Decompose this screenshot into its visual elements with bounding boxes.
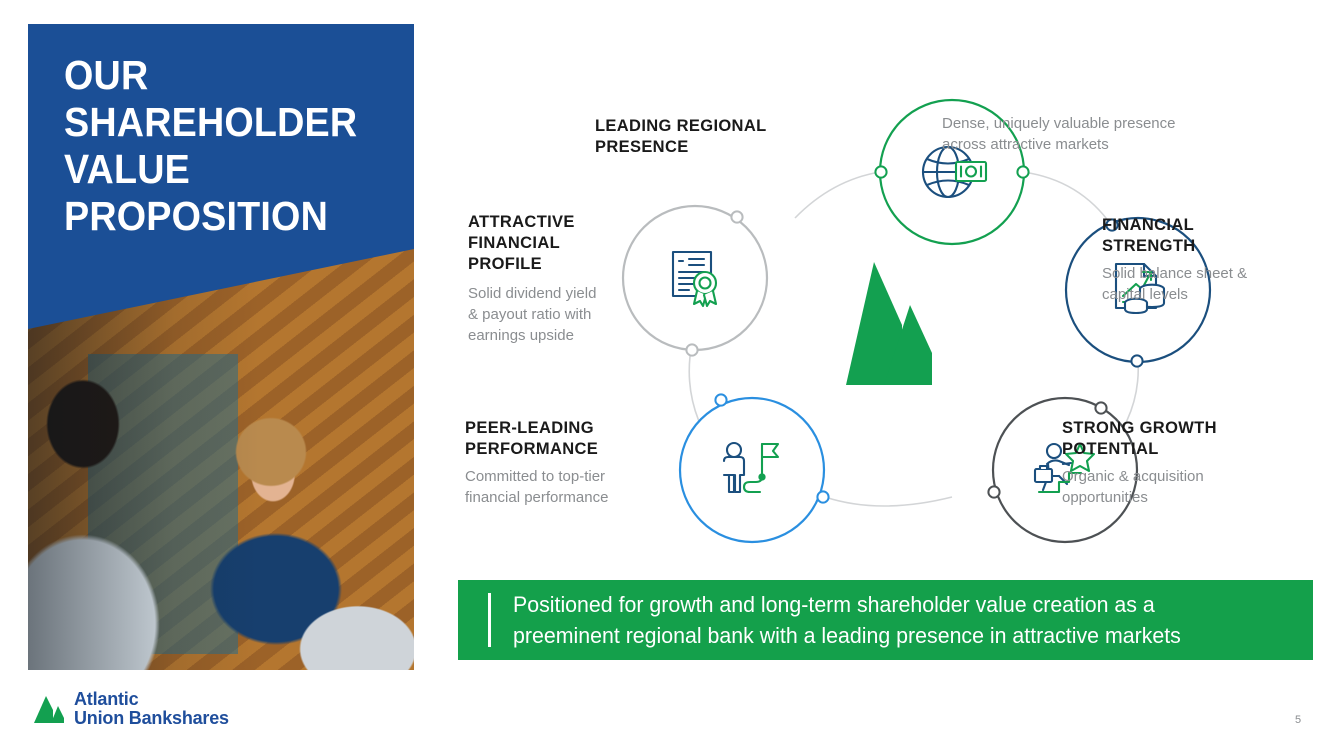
title-photo-panel: OUR SHAREHOLDER VALUE PROPOSITION bbox=[28, 24, 414, 670]
banner-line-1: Positioned for growth and long-term shar… bbox=[513, 589, 1181, 620]
title-line-4: PROPOSITION bbox=[64, 193, 368, 240]
label-financial-strength-title: FINANCIAL STRENGTH bbox=[1102, 215, 1302, 257]
label-peer-leading-performance-desc: Committed to top-tier financial performa… bbox=[465, 466, 655, 508]
title-line-2: SHAREHOLDER bbox=[64, 99, 368, 146]
company-logo: Atlantic Union Bankshares bbox=[32, 690, 229, 728]
label-leading-regional-presence-title: LEADING REGIONAL PRESENCE bbox=[595, 116, 810, 158]
growth-title-line-1: STRONG GROWTH bbox=[1062, 418, 1277, 439]
atlantic-union-a-mark bbox=[846, 262, 932, 385]
node-blue-right bbox=[817, 491, 828, 502]
label-strong-growth-potential-title: STRONG GROWTH POTENTIAL bbox=[1062, 418, 1277, 460]
label-attractive-financial-profile-title: ATTRACTIVE FINANCIAL PROFILE bbox=[468, 212, 628, 275]
node-lightgray-bottom bbox=[686, 344, 697, 355]
growth-title-line-2: POTENTIAL bbox=[1062, 439, 1277, 460]
attractive-desc-line-3: earnings upside bbox=[468, 325, 628, 346]
page-title: OUR SHAREHOLDER VALUE PROPOSITION bbox=[64, 52, 394, 240]
page-number: 5 bbox=[1295, 714, 1301, 726]
peer-title-line-1: PEER-LEADING bbox=[465, 418, 655, 439]
attractive-desc-line-1: Solid dividend yield bbox=[468, 283, 628, 304]
logo-line-1: Atlantic bbox=[74, 690, 229, 709]
leading-title-line-2: PRESENCE bbox=[595, 137, 810, 158]
node-darkgray-left bbox=[988, 486, 999, 497]
label-leading-regional-presence-desc: Dense, uniquely valuable presence across… bbox=[942, 113, 1202, 155]
node-green-right bbox=[1017, 166, 1028, 177]
growth-desc-line-2: opportunities bbox=[1062, 487, 1277, 508]
circle-peer-leading-performance bbox=[680, 398, 824, 542]
node-darkgray-top bbox=[1095, 402, 1106, 413]
label-financial-strength-desc: Solid balance sheet & capital levels bbox=[1102, 263, 1302, 305]
banner-text: Positioned for growth and long-term shar… bbox=[513, 589, 1181, 651]
financial-title-line-1: FINANCIAL bbox=[1102, 215, 1302, 236]
attractive-title-line-1: ATTRACTIVE bbox=[468, 212, 628, 233]
summary-banner: Positioned for growth and long-term shar… bbox=[458, 580, 1313, 660]
node-navy-bottom bbox=[1131, 355, 1142, 366]
title-line-1: OUR bbox=[64, 52, 368, 99]
growth-desc-line-1: Organic & acquisition bbox=[1062, 466, 1277, 487]
logo-wordmark: Atlantic Union Bankshares bbox=[74, 690, 229, 728]
label-attractive-financial-profile-desc: Solid dividend yield & payout ratio with… bbox=[468, 283, 628, 346]
logo-line-2: Union Bankshares bbox=[74, 709, 229, 728]
value-proposition-diagram: LEADING REGIONAL PRESENCE Dense, uniquel… bbox=[440, 60, 1320, 560]
peer-desc-line-2: financial performance bbox=[465, 487, 655, 508]
attractive-title-line-2: FINANCIAL bbox=[468, 233, 628, 254]
peer-desc-line-1: Committed to top-tier bbox=[465, 466, 655, 487]
label-peer-leading-performance-title: PEER-LEADING PERFORMANCE bbox=[465, 418, 655, 460]
attractive-desc-line-2: & payout ratio with bbox=[468, 304, 628, 325]
label-strong-growth-potential-desc: Organic & acquisition opportunities bbox=[1062, 466, 1277, 508]
leading-title-line-1: LEADING REGIONAL bbox=[595, 116, 810, 137]
financial-desc-line-1: Solid balance sheet & bbox=[1102, 263, 1302, 284]
banner-accent-bar bbox=[488, 593, 491, 647]
node-blue-top bbox=[715, 394, 726, 405]
leading-desc-line-2: across attractive markets bbox=[942, 134, 1202, 155]
leading-desc-line-1: Dense, uniquely valuable presence bbox=[942, 113, 1202, 134]
attractive-title-line-3: PROFILE bbox=[468, 254, 628, 275]
banner-line-2: preeminent regional bank with a leading … bbox=[513, 620, 1181, 651]
atlantic-union-logo-icon bbox=[32, 694, 66, 724]
node-lightgray-top bbox=[731, 211, 742, 222]
peer-title-line-2: PERFORMANCE bbox=[465, 439, 655, 460]
financial-desc-line-2: capital levels bbox=[1102, 284, 1302, 305]
title-line-3: VALUE bbox=[64, 146, 368, 193]
node-green-left bbox=[875, 166, 886, 177]
financial-title-line-2: STRENGTH bbox=[1102, 236, 1302, 257]
